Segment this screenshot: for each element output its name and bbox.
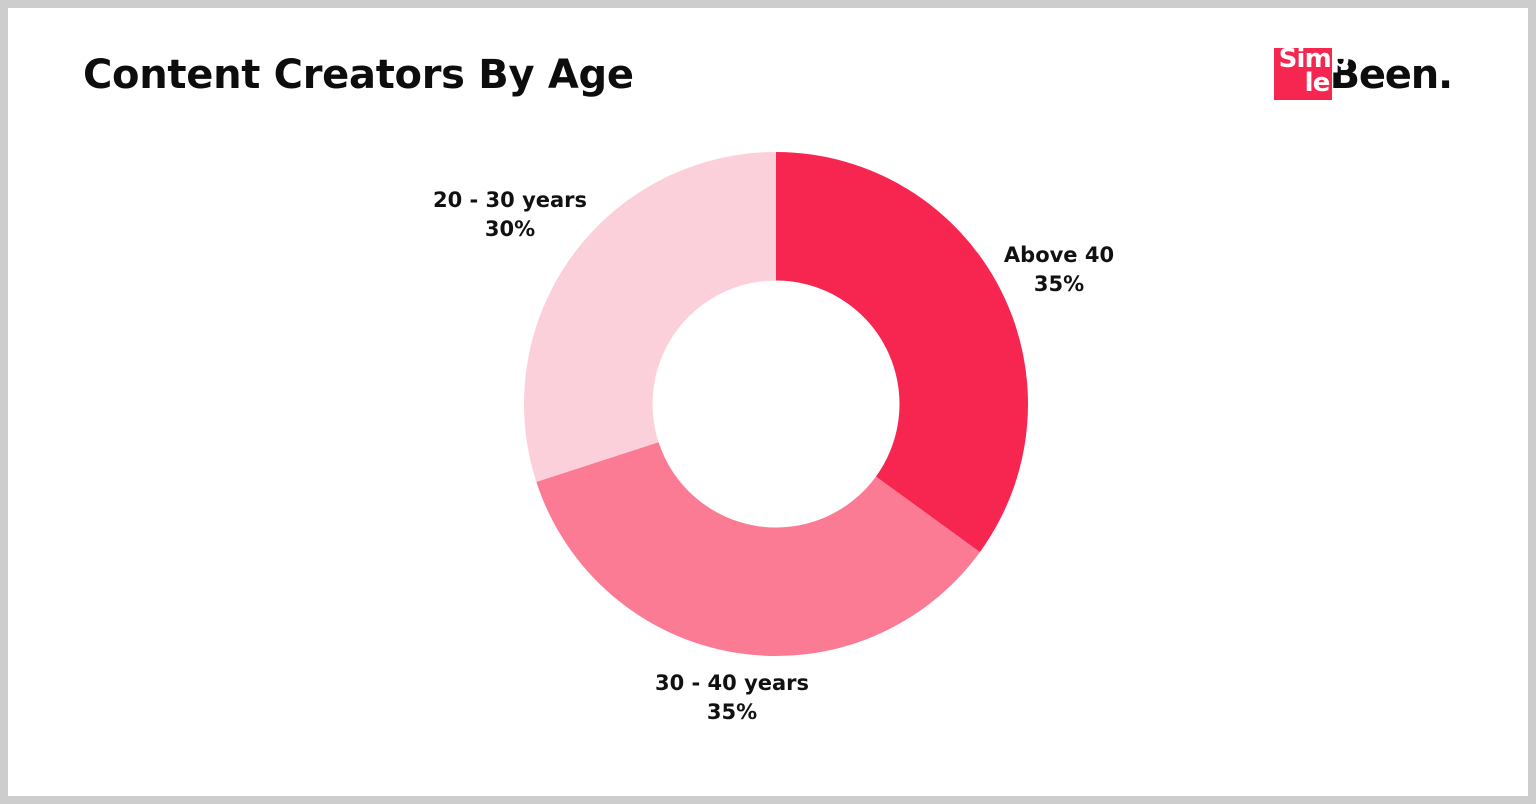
slide-canvas: Content Creators By Age Simp le Been. Ab… [8,8,1528,796]
slice-label-name: 20 - 30 years [370,186,650,215]
donut-chart: Above 40 35% 30 - 40 years 35% 20 - 30 y… [8,8,1536,804]
slice-label-name: Above 40 [954,241,1164,270]
slice-label-value: 30% [370,215,650,244]
slice-label-name: 30 - 40 years [592,669,872,698]
slice-label-above-40: Above 40 35% [954,241,1164,299]
slide-page: Content Creators By Age Simp le Been. Ab… [0,0,1536,804]
slice-label-20-30-years: 20 - 30 years 30% [370,186,650,244]
slice-label-value: 35% [954,270,1164,299]
slice-label-value: 35% [592,698,872,727]
slice-label-30-40-years: 30 - 40 years 35% [592,669,872,727]
donut-slice [776,152,1028,552]
